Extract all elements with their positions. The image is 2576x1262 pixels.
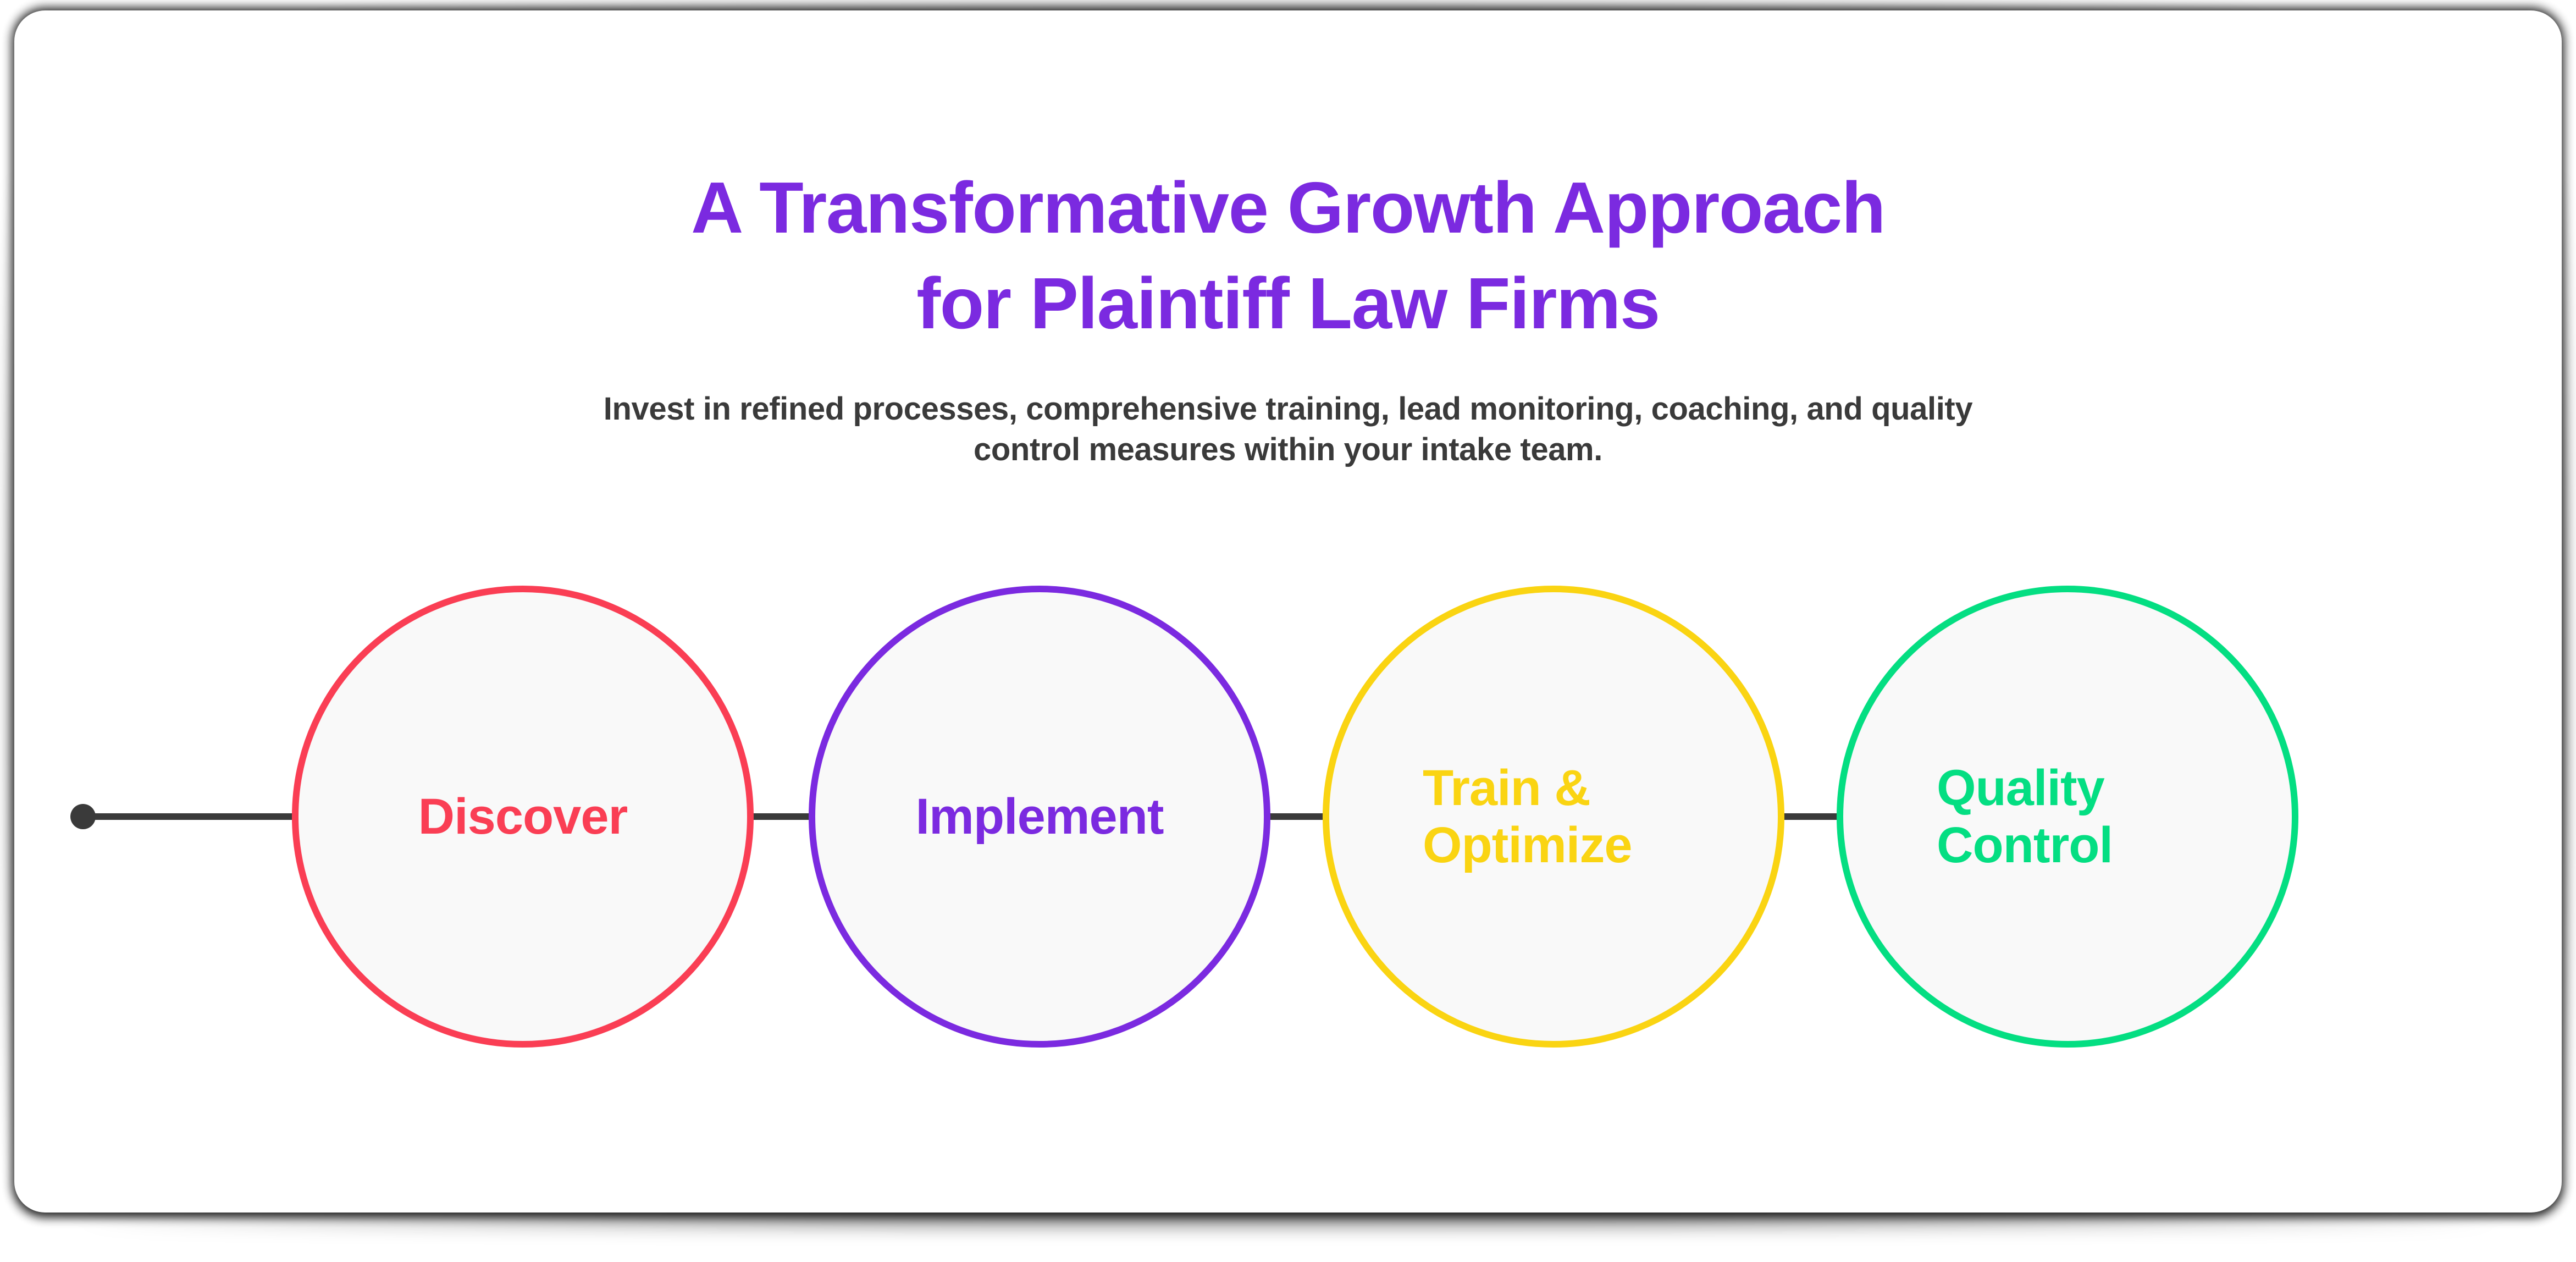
process-node-label: Train & Optimize [1329, 759, 1778, 874]
segment-implement-train [1262, 813, 1327, 820]
process-node-label: Quality Control [1843, 759, 2292, 874]
infographic-card: A Transformative Growth Approach for Pla… [14, 10, 2562, 1213]
segment-train-quality [1776, 813, 1841, 820]
process-node-quality-control[interactable]: Quality Control [1837, 586, 2298, 1048]
segment-discover-implement [748, 813, 811, 820]
process-node-label: Implement [815, 788, 1264, 845]
process-node-implement[interactable]: Implement [809, 586, 1270, 1048]
process-node-label: Discover [298, 788, 747, 845]
start-dot [70, 804, 96, 829]
segment-start [83, 813, 295, 820]
infographic-canvas: A Transformative Growth Approach for Pla… [0, 0, 2576, 1262]
process-node-discover[interactable]: Discover [292, 586, 754, 1048]
process-flow-diagram: DiscoverImplementTrain & OptimizeQuality… [14, 10, 2562, 1213]
process-node-train-optimize[interactable]: Train & Optimize [1323, 586, 1784, 1048]
